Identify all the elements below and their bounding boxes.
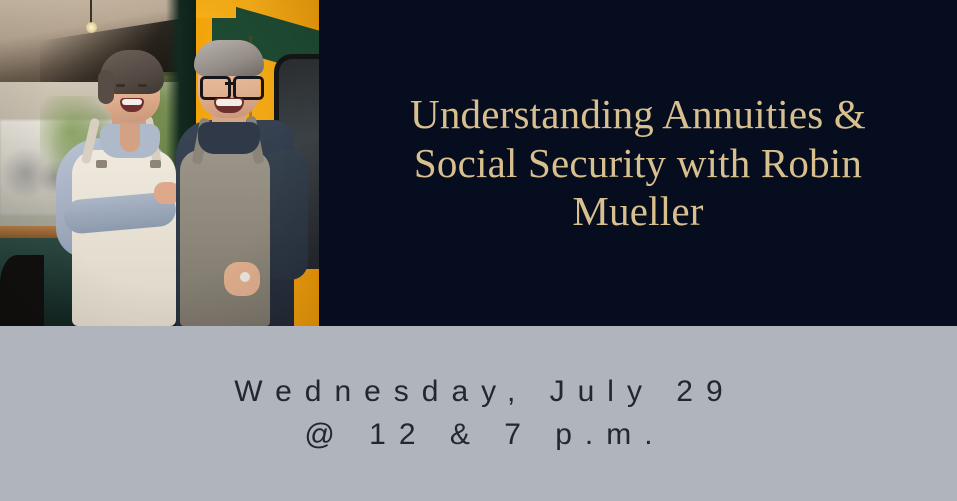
headline-panel: Understanding Annuities & Social Securit… [319, 0, 957, 326]
couple-food-truck-photo [0, 0, 319, 326]
schedule-bar: Wednesday, July 29 @ 12 & 7 p.m. [0, 326, 957, 501]
event-date: Wednesday, July 29 [221, 371, 735, 414]
event-promo-banner: Understanding Annuities & Social Securit… [0, 0, 957, 501]
event-time: @ 12 & 7 p.m. [291, 414, 665, 457]
photo-vignette [0, 0, 319, 326]
banner-top-section: Understanding Annuities & Social Securit… [0, 0, 957, 326]
event-title: Understanding Annuities & Social Securit… [378, 90, 898, 235]
